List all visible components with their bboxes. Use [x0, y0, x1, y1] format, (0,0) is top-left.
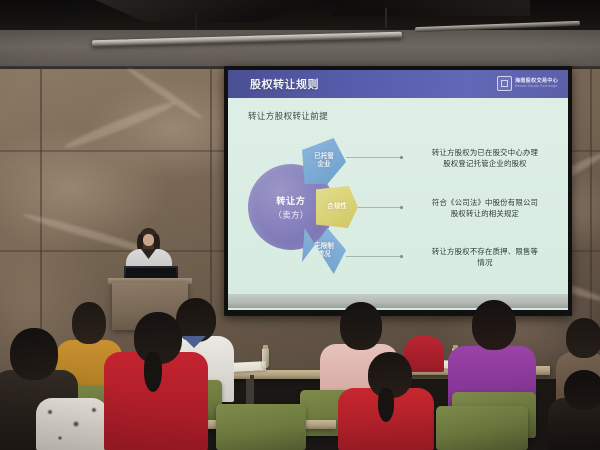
- bullet-3-line2: 情况: [406, 257, 564, 268]
- bullet-3-line1: 转让方股权不存在质押、限售等: [406, 246, 564, 257]
- leader-dot-3: [400, 255, 403, 258]
- bottle-cap: [263, 345, 268, 349]
- logo-name-en: Hainan Equity Exchange: [515, 85, 558, 88]
- logo-text-block: 海南股权交易中心 Hainan Equity Exchange: [515, 79, 558, 89]
- diagram-segment-custody: 已托管 企业: [302, 138, 346, 184]
- attendee-pink-head: [340, 302, 382, 350]
- square-emblem-inner-icon: [501, 80, 508, 87]
- attendee-front-left-head: [10, 328, 58, 380]
- water-bottle: [262, 348, 269, 368]
- presenter-face: [143, 234, 154, 246]
- attendee-red-center-ponytail: [144, 352, 162, 392]
- attendee-red-right-ponytail: [378, 388, 394, 422]
- slide-title: 股权转让规则: [250, 76, 319, 92]
- attendee-mustard-head: [72, 302, 106, 344]
- square-emblem-icon: [497, 76, 512, 91]
- bullet-item-1: 转让方股权为已在股交中心办理 股权登记托管企业的股权: [406, 147, 564, 169]
- presentation-slide: 股权转让规则 海南股权交易中心 Hainan Equity Exchange 转…: [228, 70, 568, 310]
- segment-label-line1: 合规性: [327, 203, 347, 211]
- diagram-segment-unrestricted: 无限制 情况: [302, 228, 346, 274]
- attendee-far-right-head: [566, 318, 600, 358]
- projection-screen-bottom-edge: [228, 294, 568, 308]
- chair-front-right: [436, 406, 528, 450]
- center-label-line2: （卖方）: [273, 209, 308, 221]
- diagram-segment-compliance: 合规性: [316, 186, 358, 228]
- leader-line-1: [346, 157, 400, 158]
- center-label-line1: 转让方: [276, 194, 305, 207]
- leader-dot-2: [400, 206, 403, 209]
- segment-label-line2: 企业: [317, 161, 330, 169]
- chair-front-center: [216, 404, 306, 450]
- bullet-2-line1: 符合《公司法》中股份有限公司: [406, 197, 564, 208]
- bullet-2-line2: 股权转让的相关规定: [406, 208, 564, 219]
- conference-room-photo: 股权转让规则 海南股权交易中心 Hainan Equity Exchange 转…: [0, 0, 600, 450]
- organization-logo: 海南股权交易中心 Hainan Equity Exchange: [497, 76, 558, 91]
- light-stem: [385, 8, 387, 28]
- attendee-scarf-torso: [36, 398, 108, 450]
- ceiling-panel-right: [330, 0, 530, 16]
- segment-label-line2: 情况: [317, 251, 330, 259]
- projection-screen: 股权转让规则 海南股权交易中心 Hainan Equity Exchange 转…: [228, 70, 568, 310]
- bullet-item-2: 符合《公司法》中股份有限公司 股权转让的相关规定: [406, 197, 564, 219]
- bullet-1-line2: 股权登记托管企业的股权: [406, 158, 564, 169]
- desk-leg: [250, 375, 254, 405]
- attendee-dark-right-head: [564, 370, 600, 410]
- attendee-purple-head: [472, 300, 516, 350]
- bullet-1-line1: 转让方股权为已在股交中心办理: [406, 147, 564, 158]
- bullet-item-3: 转让方股权不存在质押、限售等 情况: [406, 246, 564, 268]
- attendee-white-shirt-head: [176, 298, 216, 342]
- leader-line-2: [358, 207, 400, 208]
- leader-dot-1: [400, 156, 403, 159]
- slide-subtitle: 转让方股权转让前提: [248, 110, 328, 122]
- leader-line-3: [346, 256, 400, 257]
